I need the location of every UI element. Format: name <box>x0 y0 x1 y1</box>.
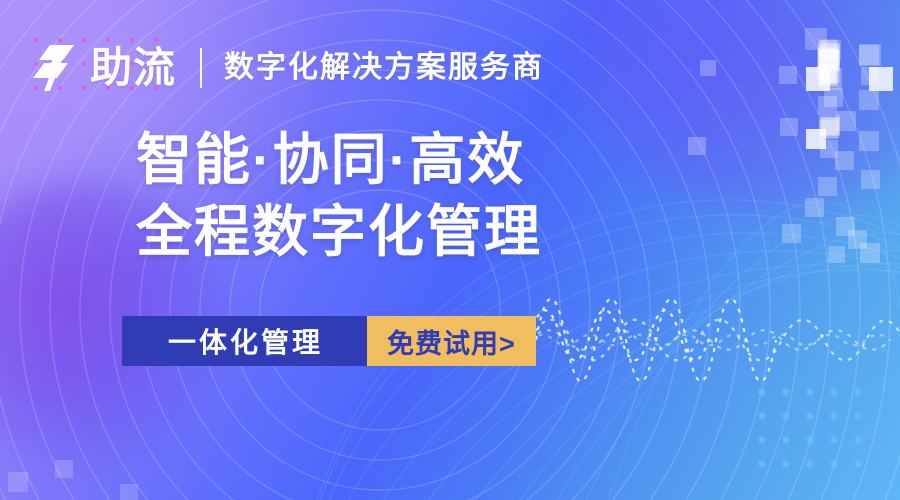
headline-block: 智能·协同·高效 全程数字化管理 <box>136 124 542 268</box>
brand-tagline: 数字化解决方案服务商 <box>224 53 544 83</box>
headline-line-2: 全程数字化管理 <box>136 196 542 268</box>
hero-banner: 助流 数字化解决方案服务商 智能·协同·高效 全程数字化管理 一体化管理 免费试… <box>0 0 900 500</box>
brand-name: 助流 <box>90 47 176 89</box>
brand-logo-row[interactable]: 助流 数字化解决方案服务商 <box>30 40 544 96</box>
free-trial-button[interactable]: 免费试用> <box>367 316 536 366</box>
headline-line-1: 智能·协同·高效 <box>136 124 542 196</box>
cta-bar: 一体化管理 免费试用> <box>122 316 536 366</box>
lightning-bolt-slash-icon <box>30 43 82 93</box>
integrated-management-button[interactable]: 一体化管理 <box>122 316 367 366</box>
brand-divider <box>200 48 202 88</box>
banner-content: 助流 数字化解决方案服务商 智能·协同·高效 全程数字化管理 一体化管理 免费试… <box>0 0 900 500</box>
